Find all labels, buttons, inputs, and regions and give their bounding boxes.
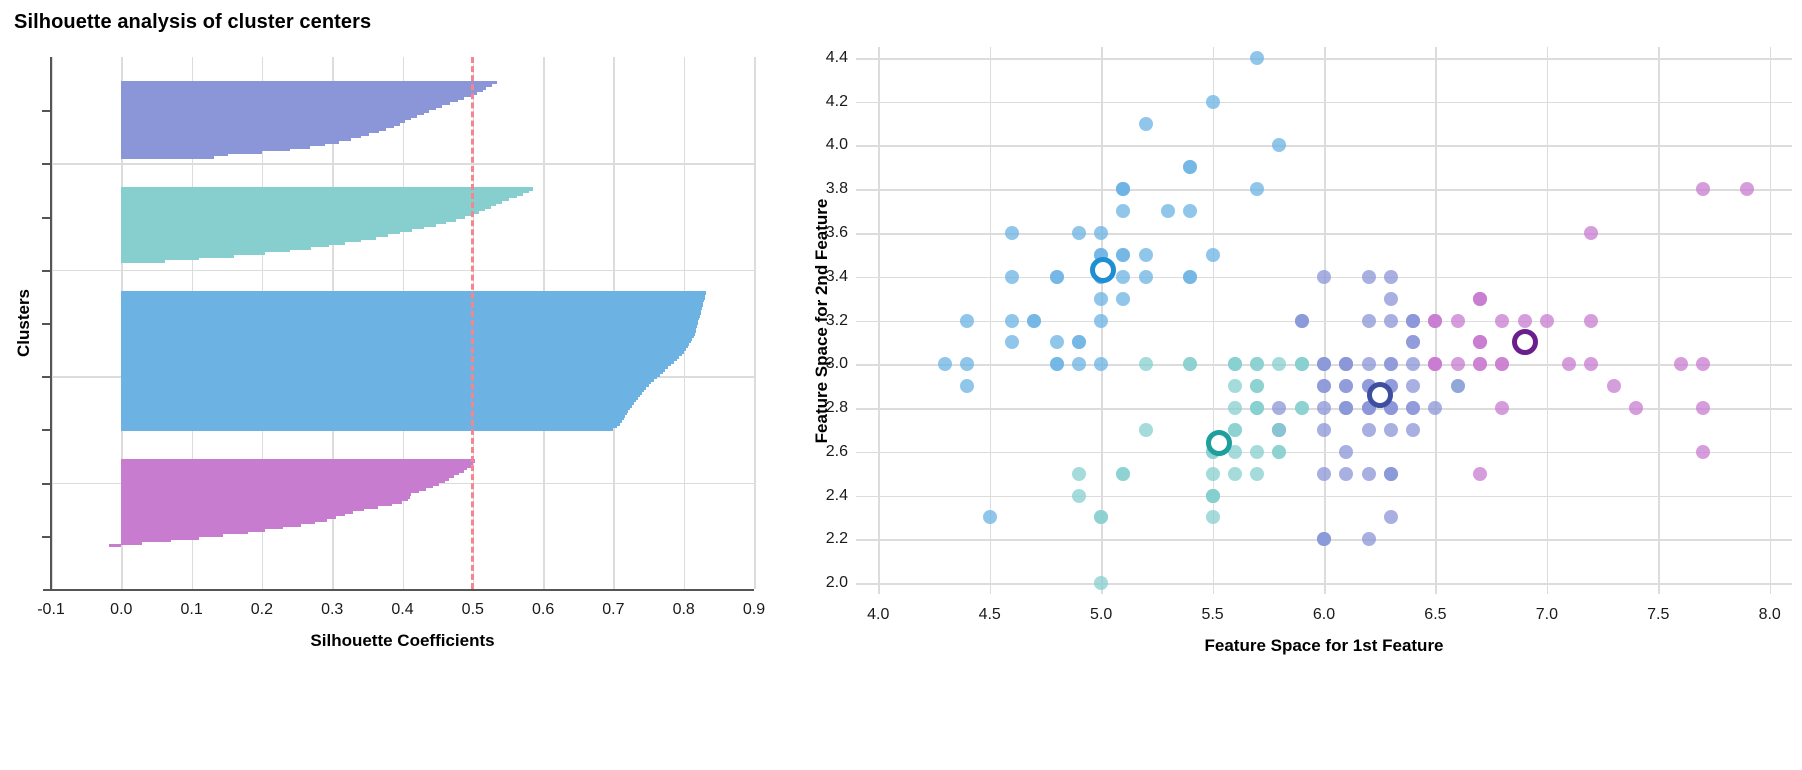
scatter-point <box>1116 248 1130 262</box>
scatter-point <box>1094 226 1108 240</box>
scatter-y-tick-label: 2.4 <box>804 487 848 505</box>
scatter-point <box>1740 182 1754 196</box>
scatter-point <box>1272 401 1286 415</box>
figure-root: Silhouette analysis of cluster centers -… <box>0 0 1802 770</box>
scatter-point <box>1384 423 1398 437</box>
scatter-point <box>1451 357 1465 371</box>
silhouette-y-tick <box>42 376 51 378</box>
silhouette-y-axis-title: Clusters <box>14 289 34 357</box>
silhouette-y-tick <box>42 217 51 219</box>
scatter-point <box>1295 401 1309 415</box>
scatter-point <box>1250 467 1264 481</box>
scatter-point <box>1339 445 1353 459</box>
scatter-point <box>1384 510 1398 524</box>
scatter-point <box>1094 510 1108 524</box>
scatter-x-tick-label: 4.5 <box>979 606 1001 624</box>
scatter-point <box>1406 401 1420 415</box>
scatter-y-tick-label: 4.2 <box>804 93 848 111</box>
scatter-point <box>1451 379 1465 393</box>
silhouette-x-tick-label: 0.3 <box>321 601 343 619</box>
scatter-point <box>1317 467 1331 481</box>
scatter-point <box>1005 270 1019 284</box>
scatter-point <box>1384 314 1398 328</box>
cluster-centroid-marker-0 <box>1367 382 1393 408</box>
scatter-point <box>1406 423 1420 437</box>
scatter-point <box>1206 489 1220 503</box>
silhouette-row <box>121 541 142 544</box>
scatter-point <box>960 314 974 328</box>
scatter-point <box>1116 292 1130 306</box>
scatter-point <box>1406 379 1420 393</box>
scatter-point <box>960 379 974 393</box>
scatter-x-tick-label: 8.0 <box>1759 606 1781 624</box>
scatter-point <box>1362 357 1376 371</box>
scatter-y-tick-label: 2.6 <box>804 443 848 461</box>
scatter-point <box>1116 270 1130 284</box>
scatter-gridline-h <box>856 145 1792 147</box>
scatter-point <box>1607 379 1621 393</box>
silhouette-cluster-band-0 <box>51 81 754 158</box>
silhouette-x-axis-spine <box>43 589 754 591</box>
scatter-point <box>1495 357 1509 371</box>
scatter-point <box>1384 270 1398 284</box>
scatter-point <box>1339 357 1353 371</box>
silhouette-x-tick-label: 0.2 <box>251 601 273 619</box>
scatter-point <box>1116 182 1130 196</box>
scatter-point <box>1228 401 1242 415</box>
scatter-point <box>1295 314 1309 328</box>
scatter-point <box>1161 204 1175 218</box>
scatter-point <box>1629 401 1643 415</box>
scatter-point <box>1116 467 1130 481</box>
scatter-point <box>1005 226 1019 240</box>
scatter-point <box>1384 292 1398 306</box>
scatter-point <box>983 510 997 524</box>
silhouette-gridline-h <box>51 270 754 272</box>
silhouette-x-tick-label: 0.1 <box>180 601 202 619</box>
scatter-point <box>1139 270 1153 284</box>
scatter-point <box>1072 489 1086 503</box>
scatter-gridline-h <box>856 583 1792 585</box>
scatter-point <box>1094 576 1108 590</box>
cluster-centroid-marker-3 <box>1512 329 1538 355</box>
scatter-point <box>1139 117 1153 131</box>
scatter-point <box>1005 335 1019 349</box>
scatter-point <box>1183 357 1197 371</box>
scatter-point <box>1540 314 1554 328</box>
page-title: Silhouette analysis of cluster centers <box>14 11 371 34</box>
scatter-point <box>1428 314 1442 328</box>
silhouette-cluster-band-1 <box>51 187 754 262</box>
scatter-point <box>1696 357 1710 371</box>
scatter-point <box>1183 204 1197 218</box>
scatter-point <box>1674 357 1688 371</box>
average-silhouette-threshold-line <box>471 57 474 589</box>
scatter-gridline-h <box>856 233 1792 235</box>
silhouette-x-tick-label: 0.5 <box>462 601 484 619</box>
silhouette-row <box>109 544 121 547</box>
scatter-point <box>1584 357 1598 371</box>
scatter-point <box>1317 401 1331 415</box>
cluster-centroid-marker-1 <box>1206 430 1232 456</box>
scatter-point <box>1250 51 1264 65</box>
scatter-point <box>1272 138 1286 152</box>
scatter-point <box>1183 160 1197 174</box>
scatter-y-tick-label: 4.0 <box>804 136 848 154</box>
scatter-point <box>1317 357 1331 371</box>
scatter-point <box>1384 467 1398 481</box>
scatter-gridline-h <box>856 496 1792 498</box>
silhouette-y-tick <box>42 536 51 538</box>
scatter-x-tick-label: 5.5 <box>1201 606 1223 624</box>
scatter-point <box>1250 445 1264 459</box>
scatter-point <box>1362 532 1376 546</box>
scatter-point <box>1473 467 1487 481</box>
silhouette-y-tick <box>42 429 51 431</box>
scatter-point <box>1295 357 1309 371</box>
scatter-point <box>1584 226 1598 240</box>
silhouette-row <box>121 259 165 262</box>
scatter-point <box>1228 467 1242 481</box>
silhouette-y-tick <box>42 163 51 165</box>
scatter-point <box>1183 270 1197 284</box>
scatter-point <box>1495 401 1509 415</box>
cluster-centroid-marker-2 <box>1090 257 1116 283</box>
scatter-y-tick-label: 2.2 <box>804 530 848 548</box>
scatter-point <box>1094 292 1108 306</box>
scatter-point <box>1228 379 1242 393</box>
scatter-point <box>1072 357 1086 371</box>
scatter-x-tick-label: 6.5 <box>1424 606 1446 624</box>
scatter-point <box>1250 182 1264 196</box>
scatter-point <box>1406 335 1420 349</box>
scatter-point <box>1317 423 1331 437</box>
scatter-point <box>1495 314 1509 328</box>
scatter-point <box>1362 467 1376 481</box>
scatter-x-tick-label: 6.0 <box>1313 606 1335 624</box>
scatter-point <box>1050 357 1064 371</box>
scatter-point <box>960 357 974 371</box>
scatter-point <box>1362 270 1376 284</box>
silhouette-x-tick-label: 0.4 <box>391 601 413 619</box>
scatter-point <box>1562 357 1576 371</box>
scatter-y-tick-label: 2.0 <box>804 574 848 592</box>
scatter-x-axis-title: Feature Space for 1st Feature <box>1204 636 1443 656</box>
silhouette-cluster-band-2 <box>51 291 754 430</box>
scatter-point <box>1250 379 1264 393</box>
scatter-point <box>1339 401 1353 415</box>
scatter-gridline-h <box>856 102 1792 104</box>
silhouette-cluster-band-3 <box>51 459 754 546</box>
scatter-point <box>1005 314 1019 328</box>
scatter-point <box>1317 379 1331 393</box>
scatter-point <box>1272 423 1286 437</box>
scatter-point <box>1473 292 1487 306</box>
scatter-point <box>1696 445 1710 459</box>
scatter-x-tick-label: 7.0 <box>1536 606 1558 624</box>
scatter-point <box>1406 357 1420 371</box>
scatter-point <box>1206 467 1220 481</box>
silhouette-row <box>121 155 214 158</box>
scatter-x-tick-label: 4.0 <box>867 606 889 624</box>
silhouette-x-axis-title: Silhouette Coefficients <box>310 631 494 651</box>
scatter-point <box>1050 335 1064 349</box>
scatter-point <box>1696 182 1710 196</box>
scatter-point <box>1406 314 1420 328</box>
scatter-y-tick-label: 3.8 <box>804 180 848 198</box>
silhouette-x-tick-label: 0.6 <box>532 601 554 619</box>
silhouette-y-tick <box>42 110 51 112</box>
scatter-point <box>1362 423 1376 437</box>
scatter-x-tick-label: 7.5 <box>1647 606 1669 624</box>
scatter-point <box>1250 401 1264 415</box>
scatter-point <box>1384 357 1398 371</box>
silhouette-y-tick <box>42 483 51 485</box>
scatter-point <box>1339 467 1353 481</box>
silhouette-y-tick <box>42 270 51 272</box>
scatter-point <box>1206 510 1220 524</box>
silhouette-x-tick-label: -0.1 <box>37 601 65 619</box>
scatter-point <box>1094 314 1108 328</box>
scatter-point <box>1094 357 1108 371</box>
silhouette-x-tick-label: 0.8 <box>673 601 695 619</box>
scatter-gridline-h <box>856 321 1792 323</box>
scatter-point <box>1451 314 1465 328</box>
scatter-point <box>1250 357 1264 371</box>
scatter-point <box>1317 270 1331 284</box>
scatter-gridline-h <box>856 58 1792 60</box>
scatter-point <box>1473 357 1487 371</box>
silhouette-x-tick-label: 0.9 <box>743 601 765 619</box>
scatter-point <box>1072 467 1086 481</box>
scatter-point <box>1518 314 1532 328</box>
silhouette-x-tick-label: 0.0 <box>110 601 132 619</box>
silhouette-y-tick <box>42 323 51 325</box>
scatter-point <box>1050 270 1064 284</box>
scatter-gridline-h <box>856 189 1792 191</box>
scatter-point <box>1339 379 1353 393</box>
scatter-point <box>1272 445 1286 459</box>
silhouette-gridline-h <box>51 163 754 165</box>
scatter-point <box>1428 357 1442 371</box>
silhouette-row <box>121 427 613 430</box>
scatter-y-axis-title: Feature Space for 2nd Feature <box>812 198 832 443</box>
scatter-point <box>1027 314 1041 328</box>
scatter-gridline-h <box>856 452 1792 454</box>
scatter-point <box>1116 204 1130 218</box>
silhouette-gridline-v <box>754 57 756 589</box>
scatter-point <box>1139 248 1153 262</box>
scatter-x-tick-label: 5.0 <box>1090 606 1112 624</box>
scatter-point <box>1272 357 1286 371</box>
scatter-point <box>1362 314 1376 328</box>
scatter-point <box>1428 401 1442 415</box>
scatter-point <box>1206 95 1220 109</box>
scatter-point <box>1139 423 1153 437</box>
scatter-y-tick-label: 4.4 <box>804 49 848 67</box>
scatter-point <box>1206 248 1220 262</box>
scatter-point <box>1473 335 1487 349</box>
scatter-point <box>1072 335 1086 349</box>
scatter-point <box>1228 357 1242 371</box>
scatter-point <box>1072 226 1086 240</box>
scatter-point <box>1317 532 1331 546</box>
scatter-point <box>1139 357 1153 371</box>
scatter-point <box>938 357 952 371</box>
scatter-point <box>1696 401 1710 415</box>
silhouette-x-tick-label: 0.7 <box>602 601 624 619</box>
scatter-point <box>1584 314 1598 328</box>
